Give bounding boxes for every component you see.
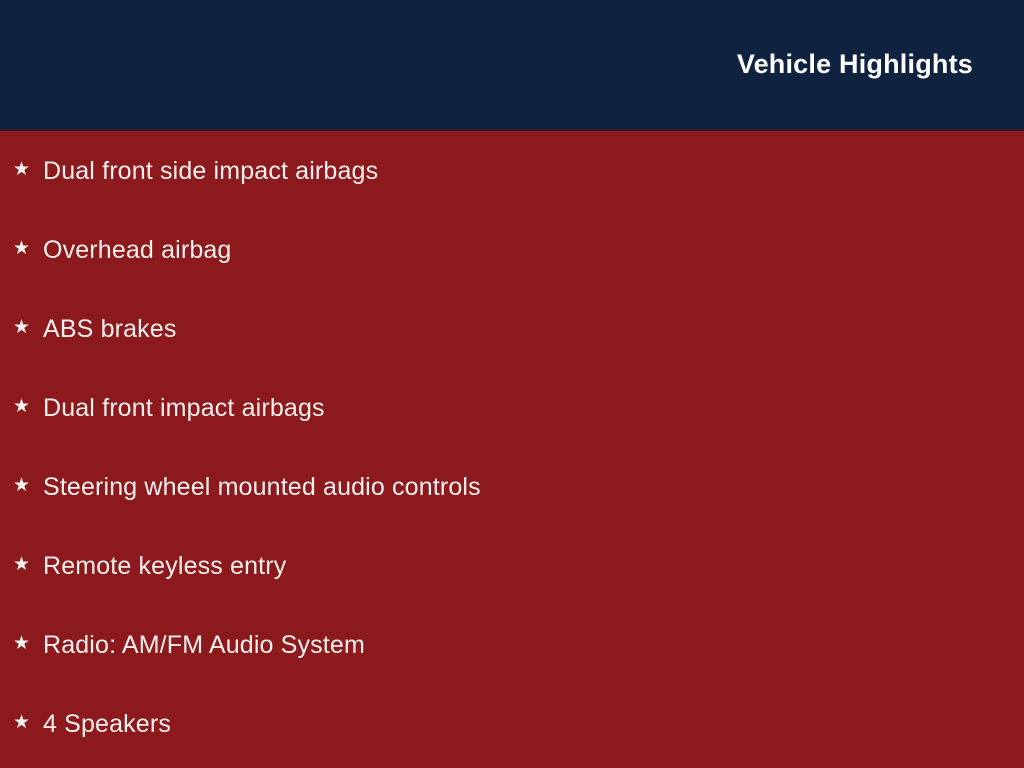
star-icon: ★ — [13, 476, 35, 495]
highlights-body: ★Dual front side impact airbags★Overhead… — [0, 131, 1024, 768]
list-item: ★Dual front impact airbags — [0, 368, 1024, 447]
header-band: Vehicle Highlights — [0, 0, 1024, 130]
list-item: ★4 Speakers — [0, 684, 1024, 763]
list-item: ★ABS brakes — [0, 289, 1024, 368]
list-item: ★Remote keyless entry — [0, 526, 1024, 605]
star-icon: ★ — [13, 160, 35, 179]
list-item-label: Dual front impact airbags — [43, 393, 325, 423]
star-icon: ★ — [13, 318, 35, 337]
list-item: ★Dual front side impact airbags — [0, 131, 1024, 210]
page-title: Vehicle Highlights — [737, 48, 973, 80]
list-item-label: Steering wheel mounted audio controls — [43, 472, 481, 502]
list-item-label: 4 Speakers — [43, 709, 171, 739]
star-icon: ★ — [13, 239, 35, 258]
list-item: ★Steering wheel mounted audio controls — [0, 447, 1024, 526]
list-item: ★Overhead airbag — [0, 210, 1024, 289]
list-item-label: Overhead airbag — [43, 235, 231, 265]
star-icon: ★ — [13, 555, 35, 574]
star-icon: ★ — [13, 634, 35, 653]
list-item: ★Radio: AM/FM Audio System — [0, 605, 1024, 684]
vehicle-highlights-slide: Vehicle Highlights ★Dual front side impa… — [0, 0, 1024, 768]
highlights-list: ★Dual front side impact airbags★Overhead… — [0, 131, 1024, 763]
star-icon: ★ — [13, 713, 35, 732]
list-item-label: Radio: AM/FM Audio System — [43, 630, 365, 660]
list-item-label: Dual front side impact airbags — [43, 156, 378, 186]
star-icon: ★ — [13, 397, 35, 416]
list-item-label: Remote keyless entry — [43, 551, 286, 581]
list-item-label: ABS brakes — [43, 314, 177, 344]
